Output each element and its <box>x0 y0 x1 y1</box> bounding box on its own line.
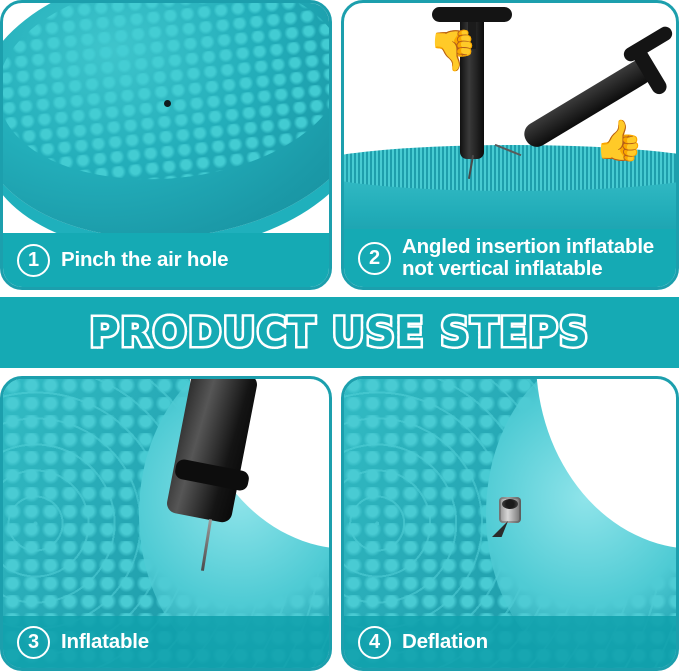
step-number-badge-3: 3 <box>17 626 50 659</box>
step-panel-2: 👎 👍 2 Angled insertion inflatable not ve… <box>341 0 679 290</box>
banner-title: PRODUCT USE STEPS <box>90 310 590 356</box>
air-hole-icon <box>164 100 171 107</box>
step-3-caption-line1: Inflatable <box>61 630 149 653</box>
step-panel-4: 4 Deflation <box>341 376 679 671</box>
step-2-caption-text: Angled insertion inflatable not vertical… <box>402 236 654 280</box>
product-use-steps-banner: PRODUCT USE STEPS <box>0 297 679 368</box>
step-number-badge-4: 4 <box>358 626 391 659</box>
step-panel-1: 1 Pinch the air hole <box>0 0 332 290</box>
step-panel-3: 3 Inflatable <box>0 376 332 671</box>
step-4-caption: 4 Deflation <box>344 616 676 668</box>
balance-disc-image <box>3 3 329 257</box>
step-4-caption-line1: Deflation <box>402 630 488 653</box>
step-number-badge-2: 2 <box>358 242 391 275</box>
air-valve-icon <box>499 497 521 523</box>
step-1-caption: 1 Pinch the air hole <box>3 233 329 287</box>
thumbs-up-icon: 👍 <box>594 121 644 161</box>
vertical-pump-handle <box>432 7 512 22</box>
step-3-caption: 3 Inflatable <box>3 616 329 668</box>
step-2-caption-line2: not vertical inflatable <box>402 258 654 280</box>
step-4-caption-text: Deflation <box>402 631 488 653</box>
step-3-caption-text: Inflatable <box>61 631 149 653</box>
thumbs-down-icon: 👎 <box>428 31 478 71</box>
step-number-badge-1: 1 <box>17 244 50 277</box>
infographic-sheet: 1 Pinch the air hole 👎 👍 2 Angled insert… <box>0 0 679 671</box>
step-1-caption-text: Pinch the air hole <box>61 249 228 271</box>
step-1-caption-line1: Pinch the air hole <box>61 248 228 271</box>
step-2-caption: 2 Angled insertion inflatable not vertic… <box>344 229 676 287</box>
step-2-caption-line1: Angled insertion inflatable <box>402 235 654 258</box>
